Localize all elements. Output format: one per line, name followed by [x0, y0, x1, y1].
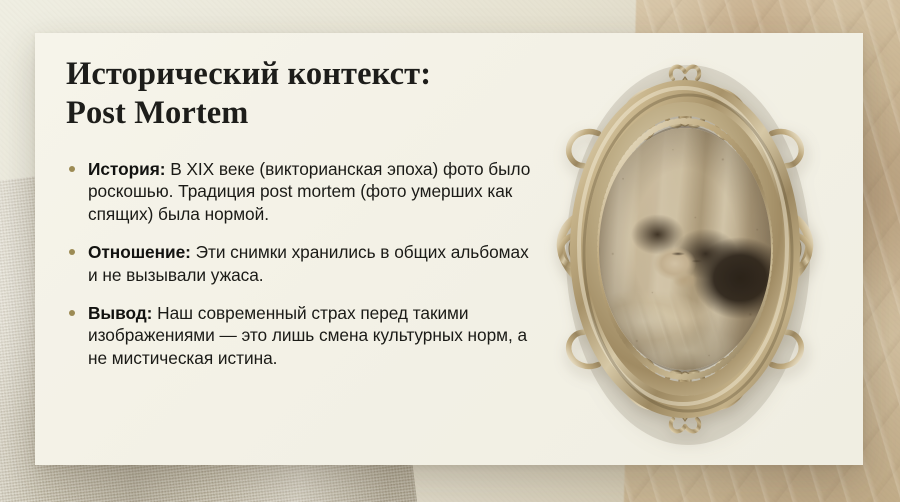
- bullet-dot-icon: [69, 249, 75, 255]
- list-item: Отношение: Эти снимки хранились в общих …: [66, 241, 536, 286]
- list-item: Вывод: Наш современный страх перед таким…: [66, 302, 536, 369]
- bullet-text: Наш современный страх перед такими изобр…: [88, 303, 527, 368]
- photo-sepia-tone: [599, 128, 771, 370]
- bullet-label: Отношение:: [88, 242, 191, 262]
- bullet-list: История: В XIX веке (викторианская эпоха…: [66, 158, 536, 369]
- page-title: Исторический контекст: Post Mortem: [66, 55, 536, 134]
- bullet-dot-icon: [69, 166, 75, 172]
- bullet-label: Вывод:: [88, 303, 152, 323]
- slide-canvas: Исторический контекст: Post Mortem Истор…: [0, 0, 900, 502]
- content-card: Исторический контекст: Post Mortem Истор…: [35, 33, 863, 465]
- bullet-dot-icon: [69, 310, 75, 316]
- bullet-label: История:: [88, 159, 165, 179]
- ornate-picture-frame: [530, 43, 840, 455]
- list-item: История: В XIX веке (викторианская эпоха…: [66, 158, 536, 225]
- text-column: Исторический контекст: Post Mortem Истор…: [66, 55, 536, 369]
- post-mortem-photograph: [599, 128, 771, 370]
